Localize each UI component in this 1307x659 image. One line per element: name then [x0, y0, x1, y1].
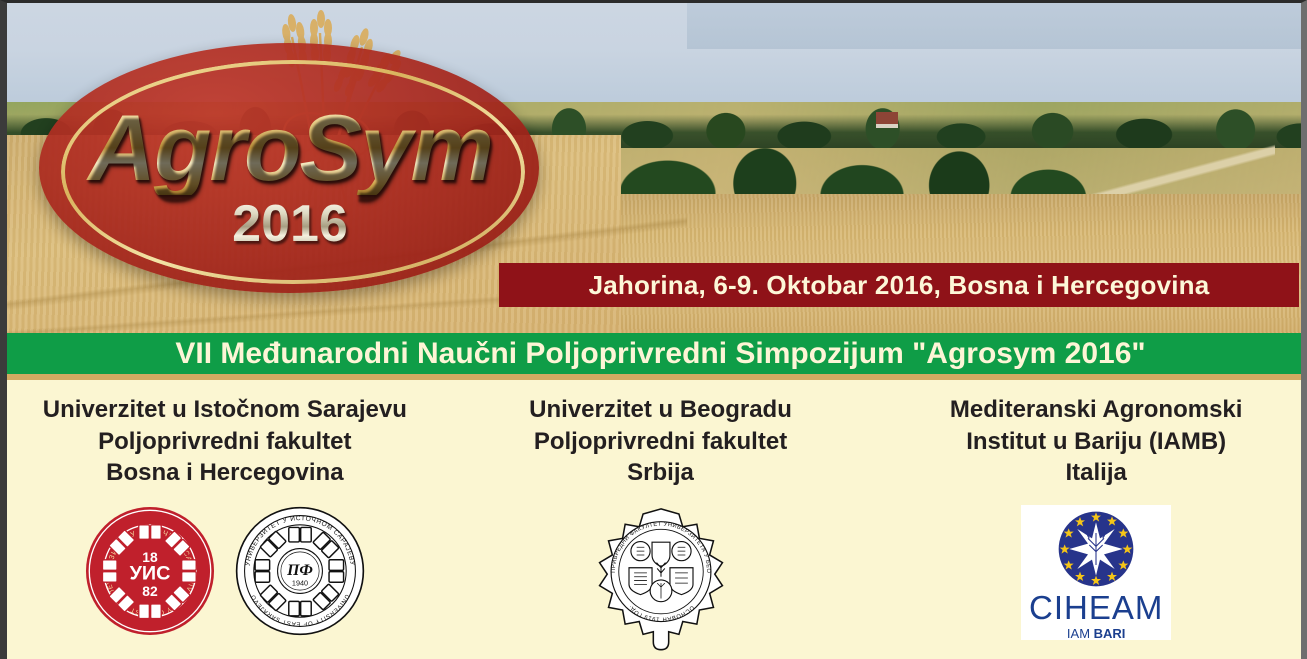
organizer-line-1: Mediteranski Agronomski — [950, 394, 1243, 426]
organizer-line-3: Bosna i Hercegovina — [43, 457, 407, 489]
faculty-of-agriculture-east-sarajevo-seal: УНИВЕРЗИТЕТ У ИСТОЧНОМ САРАЈЕВУ UNIVERSI… — [234, 505, 366, 637]
university-of-east-sarajevo-seal: УНИВЕРЗИТЕТ У ИСТОЧНОМ САРАЈЕВУ UNIVERSI… — [84, 505, 216, 637]
ciheam-emblem-icon — [1047, 509, 1145, 589]
seal-year-bottom: 82 — [142, 583, 158, 599]
organizer-line-3: Srbija — [529, 457, 792, 489]
ciheam-sub-bold: BARI — [1094, 626, 1126, 641]
organizer-column-belgrade: Univerzitet u Beogradu Poljoprivredni fa… — [443, 380, 879, 659]
agrosym-logo: AgroSym 2016 — [25, 13, 555, 308]
ciheam-sub-label: IAM BARI — [1067, 627, 1126, 640]
farm-house — [876, 112, 898, 128]
organizer-line-1: Univerzitet u Istočnom Sarajevu — [43, 394, 407, 426]
distant-water-region — [687, 3, 1307, 49]
ciheam-sub-prefix: IAM — [1067, 626, 1094, 641]
conference-poster: AgroSym 2016 Jahorina, 6-9. Oktobar 2016… — [0, 0, 1307, 659]
logo-year: 2016 — [25, 198, 555, 250]
organizer-column-east-sarajevo: Univerzitet u Istočnom Sarajevu Poljopri… — [7, 380, 443, 659]
organizer-text-block: Univerzitet u Beogradu Poljoprivredni fa… — [529, 394, 792, 489]
organizer-logos: CIHEAM IAM BARI — [1021, 505, 1171, 640]
seal-center-text: УИС — [129, 563, 170, 585]
organizer-column-iamb: Mediteranski Agronomski Institut u Barij… — [878, 380, 1307, 659]
ciheam-iam-bari-logo: CIHEAM IAM BARI — [1021, 505, 1171, 640]
seal-center-year: 1940 — [292, 579, 308, 588]
faculty-of-agriculture-belgrade-seal: ПОЉОПРИВРЕДНИ ФАКУЛТЕТ УНИВЕРЗИТЕТА У БЕ… — [597, 505, 725, 651]
organizer-line-2: Poljoprivredni fakultet — [43, 426, 407, 458]
date-location-banner: Jahorina, 6-9. Oktobar 2016, Bosna i Her… — [499, 263, 1299, 307]
seal-center-text: ПФ — [286, 562, 313, 579]
logo-wordmark: AgroSym — [25, 101, 555, 195]
organizer-line-2: Poljoprivredni fakultet — [529, 426, 792, 458]
symposium-title-banner: VII Međunarodni Naučni Poljoprivredni Si… — [7, 333, 1307, 380]
organizer-logos: ПОЉОПРИВРЕДНИ ФАКУЛТЕТ УНИВЕРЗИТЕТА У БЕ… — [597, 505, 725, 651]
organizer-line-1: Univerzitet u Beogradu — [529, 394, 792, 426]
organizer-line-3: Italija — [950, 457, 1243, 489]
ciheam-wordmark: CIHEAM — [1029, 591, 1163, 624]
organizer-text-block: Mediteranski Agronomski Institut u Barij… — [950, 394, 1243, 489]
organizer-text-block: Univerzitet u Istočnom Sarajevu Poljopri… — [43, 394, 407, 489]
organizer-logos: УНИВЕРЗИТЕТ У ИСТОЧНОМ САРАЈЕВУ UNIVERSI… — [84, 505, 366, 637]
organizer-line-2: Institut u Bariju (IAMB) — [950, 426, 1243, 458]
organizers-section: Univerzitet u Istočnom Sarajevu Poljopri… — [7, 380, 1307, 659]
